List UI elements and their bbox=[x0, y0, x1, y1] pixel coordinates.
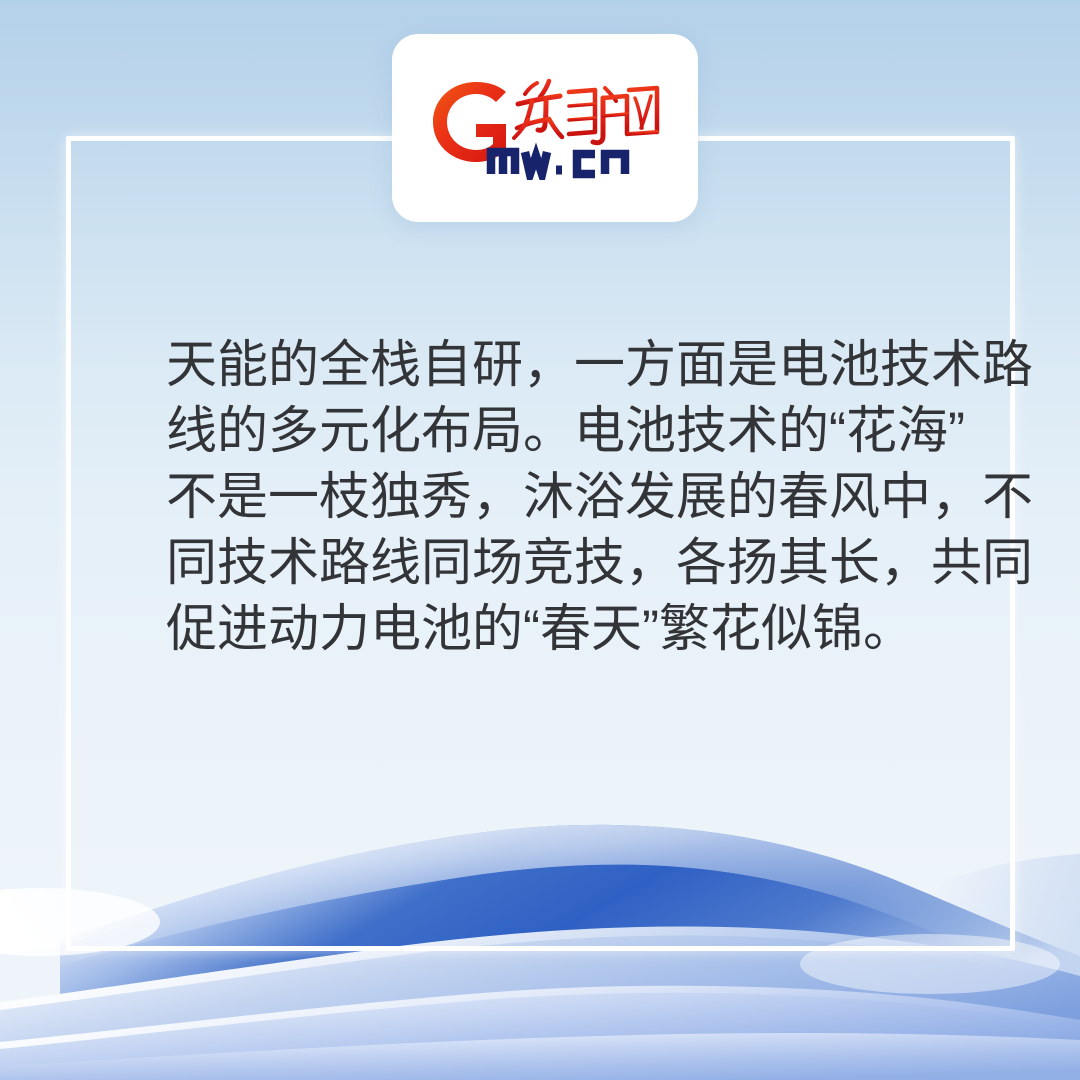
quote-line: 不是一枝独秀，沐浴发展的春风中，不 bbox=[166, 464, 956, 530]
article-quote-text: 天能的全栈自研，一方面是电池技术路 线的多元化布局。电池技术的“花海” 不是一枝… bbox=[166, 332, 956, 662]
quote-line: 促进动力电池的“春天”繁花似锦。 bbox=[166, 596, 956, 662]
quote-line: 线的多元化布局。电池技术的“花海” bbox=[166, 398, 956, 464]
logo-chinese-characters bbox=[514, 81, 657, 143]
quote-line: 同技术路线同场竞技，各扬其长，共同 bbox=[166, 530, 956, 596]
quote-line: 天能的全栈自研，一方面是电池技术路 bbox=[166, 332, 956, 398]
logo-card bbox=[392, 34, 698, 222]
logo-domain-wordmark bbox=[491, 152, 625, 174]
guangming-logo bbox=[429, 76, 661, 180]
poster-canvas: 天能的全栈自研，一方面是电池技术路 线的多元化布局。电池技术的“花海” 不是一枝… bbox=[0, 0, 1080, 1080]
